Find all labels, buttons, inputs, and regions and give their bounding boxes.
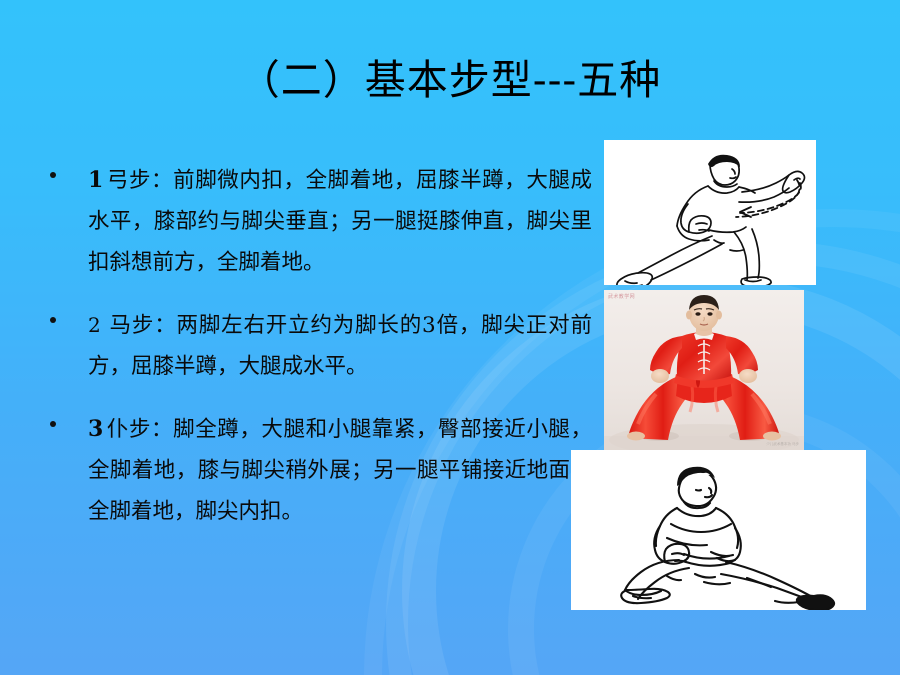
crouch-stance-illustration xyxy=(571,450,866,610)
image-horse-stance: 武术教学网 少儿武术基本功 马步 xyxy=(604,290,804,450)
list-item: 2马步：两脚左右开立约为脚长的3倍，脚尖正对前方，屈膝半蹲，大腿成水平。 xyxy=(44,305,592,387)
photo-caption: 少儿武术基本功 马步 xyxy=(766,442,799,447)
photo-watermark: 武术教学网 xyxy=(608,293,635,300)
list-item: 3仆步：脚全蹲，大腿和小腿靠紧，臀部接近小腿，全脚着地，膝与脚尖稍外展；另一腿平… xyxy=(44,409,592,532)
list-item: 1弓步：前脚微内扣，全脚着地，屈膝半蹲，大腿成水平，膝部约与脚尖垂直；另一腿挺膝… xyxy=(44,160,592,283)
image-bow-stance xyxy=(604,140,816,285)
bullet-number: 3 xyxy=(88,416,106,442)
slide-title: （二）基本步型---五种 xyxy=(0,58,900,103)
horse-stance-photo xyxy=(604,290,804,450)
image-crouch-stance xyxy=(571,450,866,610)
bullet-body: 1弓步：前脚微内扣，全脚着地，屈膝半蹲，大腿成水平，膝部约与脚尖垂直；另一腿挺膝… xyxy=(88,160,592,283)
bullet-list: 1弓步：前脚微内扣，全脚着地，屈膝半蹲，大腿成水平，膝部约与脚尖垂直；另一腿挺膝… xyxy=(44,160,592,532)
bullet-label: 马步：两脚左右开立约为脚长的3倍，脚尖正对前方，屈膝半蹲，大腿成水平。 xyxy=(88,313,592,379)
bullet-number: 1 xyxy=(88,167,106,193)
bullet-body: 2马步：两脚左右开立约为脚长的3倍，脚尖正对前方，屈膝半蹲，大腿成水平。 xyxy=(88,305,592,387)
bow-stance-illustration xyxy=(604,140,816,285)
bullet-dot-icon xyxy=(50,172,56,178)
bullet-body: 3仆步：脚全蹲，大腿和小腿靠紧，臀部接近小腿，全脚着地，膝与脚尖稍外展；另一腿平… xyxy=(88,409,592,532)
slide-canvas: （二）基本步型---五种 1弓步：前脚微内扣，全脚着地，屈膝半蹲，大腿成水平，膝… xyxy=(0,0,900,675)
bullet-label: 仆步：脚全蹲，大腿和小腿靠紧，臀部接近小腿，全脚着地，膝与脚尖稍外展；另一腿平铺… xyxy=(88,417,592,524)
bullet-dot-icon xyxy=(50,421,56,427)
bullet-dot-icon xyxy=(50,317,56,323)
bullet-number: 2 xyxy=(88,313,109,337)
bullet-label: 弓步：前脚微内扣，全脚着地，屈膝半蹲，大腿成水平，膝部约与脚尖垂直；另一腿挺膝伸… xyxy=(88,168,592,275)
